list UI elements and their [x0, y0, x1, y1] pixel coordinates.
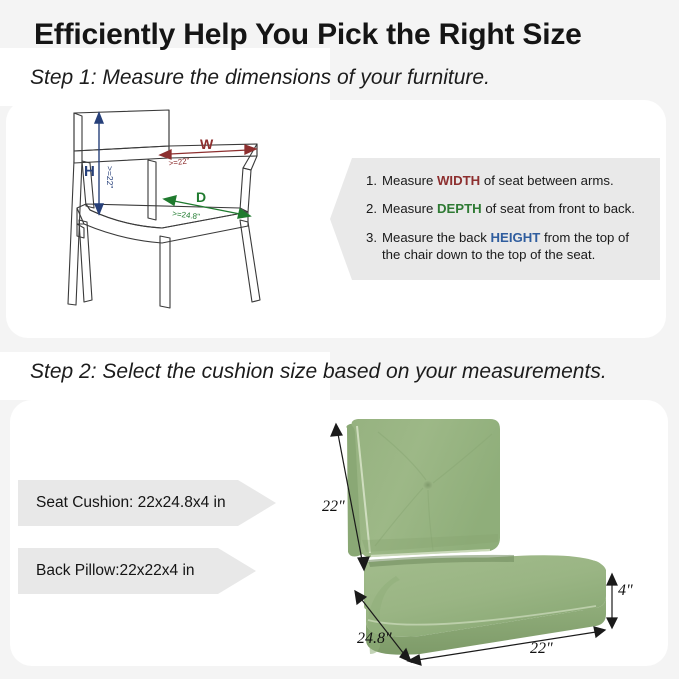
- instruction-number: 3.: [366, 229, 382, 264]
- chair-diagram: H >=22" W >=22" D >=24.8": [52, 108, 322, 336]
- step1-heading: Step 1: Measure the dimensions of your f…: [30, 66, 490, 90]
- instruction-text: Measure WIDTH of seat between arms.: [382, 172, 650, 189]
- instruction-item-3: 3. Measure the back HEIGHT from the top …: [366, 229, 650, 264]
- instruction-list: 1. Measure WIDTH of seat between arms. 2…: [366, 172, 650, 275]
- instruction-text-before: Measure: [382, 201, 437, 216]
- page-title: Efficiently Help You Pick the Right Size: [34, 18, 582, 52]
- instruction-text-after: of seat from front to back.: [482, 201, 635, 216]
- instruction-number: 2.: [366, 200, 382, 217]
- width-value-label: >=22": [168, 156, 190, 168]
- tuft-button: [423, 481, 433, 490]
- seat-cushion-shape: [364, 555, 606, 655]
- instruction-item-2: 2. Measure DEPTH of seat from front to b…: [366, 200, 650, 217]
- instruction-text-before: Measure the back: [382, 230, 491, 245]
- instruction-item-1: 1. Measure WIDTH of seat between arms.: [366, 172, 650, 189]
- depth-value-label: >=24.8": [172, 209, 201, 221]
- width-marker-label: W: [200, 136, 214, 152]
- callout-seat-cushion-label: Seat Cushion: 22x24.8x4 in: [18, 494, 226, 512]
- instruction-text-after: of seat between arms.: [480, 173, 613, 188]
- instruction-number: 1.: [366, 172, 382, 189]
- dimension-label-back-height: 22": [322, 498, 345, 516]
- back-pillow-shape: [346, 419, 500, 557]
- instruction-keyword-height: HEIGHT: [491, 230, 541, 245]
- height-value-label: >=22": [105, 166, 115, 188]
- height-marker-label: H: [84, 163, 95, 180]
- instruction-text-before: Measure: [382, 173, 437, 188]
- dimension-label-thickness: 4": [618, 582, 633, 600]
- size-guide-page: Efficiently Help You Pick the Right Size…: [0, 0, 679, 679]
- instruction-keyword-width: WIDTH: [437, 173, 480, 188]
- callout-back-pillow-label: Back Pillow:22x22x4 in: [18, 562, 195, 580]
- dimension-label-seat-width: 22": [530, 640, 553, 658]
- callout-back-pillow: Back Pillow:22x22x4 in: [18, 548, 256, 594]
- instruction-panel: 1. Measure WIDTH of seat between arms. 2…: [330, 158, 660, 280]
- step2-heading: Step 2: Select the cushion size based on…: [30, 360, 607, 384]
- instruction-text: Measure the back HEIGHT from the top of …: [382, 229, 650, 264]
- instruction-text: Measure DEPTH of seat from front to back…: [382, 200, 650, 217]
- depth-marker-label: D: [196, 189, 206, 205]
- instruction-keyword-depth: DEPTH: [437, 201, 482, 216]
- height-dimension-arrow: [95, 113, 103, 214]
- callout-seat-cushion: Seat Cushion: 22x24.8x4 in: [18, 480, 276, 526]
- dimension-label-seat-depth: 24.8": [357, 630, 392, 648]
